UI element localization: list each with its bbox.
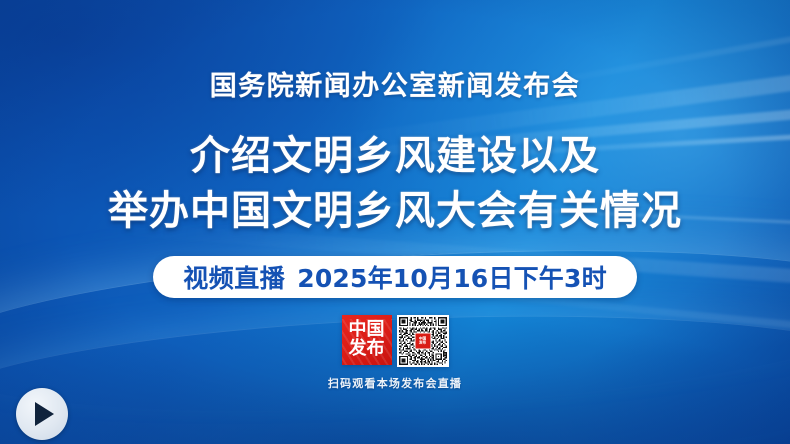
logo-line-2: 发布 xyxy=(349,340,385,358)
live-schedule-badge: 视频直播 2025年10月16日下午3时 xyxy=(153,256,637,298)
livestream-poster: 国务院新闻办公室新闻发布会 介绍文明乡风建设以及 举办中国文明乡风大会有关情况 … xyxy=(0,0,790,444)
play-button[interactable] xyxy=(16,388,68,440)
poster-content: 国务院新闻办公室新闻发布会 介绍文明乡风建设以及 举办中国文明乡风大会有关情况 … xyxy=(0,0,790,444)
page-title: 介绍文明乡风建设以及 举办中国文明乡风大会有关情况 xyxy=(108,129,682,239)
qr-center-line-2: 发布 xyxy=(419,341,426,345)
scan-instruction-text: 扫码观看本场发布会直播 xyxy=(328,375,462,391)
qr-center-logo: 中国 发布 xyxy=(414,332,431,349)
play-icon xyxy=(35,402,54,426)
china-release-logo: 中国 发布 xyxy=(342,315,392,365)
logo-line-1: 中国 xyxy=(349,321,385,339)
live-badge-label: 视频直播 xyxy=(183,259,285,295)
brand-and-qr-group: 中国 发布 xyxy=(342,315,449,367)
qr-code-icon[interactable]: 中国 发布 xyxy=(397,315,449,367)
page-title-line-1: 介绍文明乡风建设以及 xyxy=(108,129,682,184)
page-title-line-2: 举办中国文明乡风大会有关情况 xyxy=(108,184,682,239)
event-organizer-title: 国务院新闻办公室新闻发布会 xyxy=(210,64,581,103)
live-datetime-label: 2025年10月16日下午3时 xyxy=(297,259,607,295)
